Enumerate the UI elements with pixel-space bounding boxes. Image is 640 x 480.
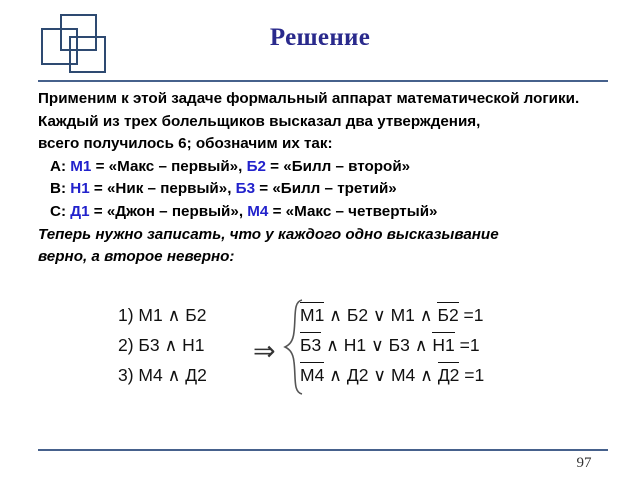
numbered-formula-list: 1) М1 ∧ Б2 2) Б3 ∧ Н1 3) М4 ∧ Д2 (118, 300, 207, 390)
person-b-text-2: = «Билл – третий» (255, 180, 397, 197)
slide-title: Решение (0, 24, 640, 52)
equation-tail: =1 (459, 305, 484, 325)
equation-row: М1 ∧ Б2 ∨ М1 ∧ Б2 =1 (300, 300, 484, 330)
person-c-prefix: C: (50, 203, 70, 220)
body-line-2: Каждый из трех болельщиков высказал два … (38, 111, 616, 134)
equation-row: Б3 ∧ Н1 ∨ Б3 ∧ Н1 =1 (300, 330, 484, 360)
person-c-text-1: = «Джон – первый», (90, 203, 248, 220)
body-line-3: всего получилось 6; обозначим их так: (38, 133, 616, 156)
equation-tail: =1 (455, 335, 480, 355)
person-b-label-2: Б3 (236, 180, 255, 197)
implies-arrow-icon: ⇒ (253, 338, 276, 365)
slide-body: Применим к этой задаче формальный аппара… (38, 88, 616, 269)
person-b-text-1: = «Ник – первый», (90, 180, 236, 197)
person-a-text-2: = «Билл – второй» (266, 158, 410, 175)
person-a-text-1: = «Макс – первый», (91, 158, 246, 175)
negated-term: Д2 (438, 362, 460, 387)
negated-term: М1 (300, 302, 324, 327)
person-a-prefix: A: (50, 158, 70, 175)
negated-term: М4 (300, 362, 324, 387)
negated-term: Б3 (300, 332, 321, 357)
equation-middle: ∧ Б2 ∨ М1 ∧ (324, 305, 437, 325)
equation-middle: ∧ Н1 ∨ Б3 ∧ (321, 335, 432, 355)
person-a-label-1: М1 (70, 158, 91, 175)
formula-area: 1) М1 ∧ Б2 2) Б3 ∧ Н1 3) М4 ∧ Д2 ⇒ М1 ∧ … (0, 298, 640, 398)
body-italic-2: верно, а второе неверно: (38, 246, 616, 269)
negated-term: Н1 (432, 332, 454, 357)
person-c-label-1: Д1 (70, 203, 89, 220)
equation-tail: =1 (459, 365, 484, 385)
person-b-prefix: B: (50, 180, 70, 197)
statement-person-c: C: Д1 = «Джон – первый», М4 = «Макс – че… (38, 201, 616, 224)
person-a-label-2: Б2 (247, 158, 266, 175)
statement-person-b: B: Н1 = «Ник – первый», Б3 = «Билл – тре… (38, 178, 616, 201)
person-c-label-2: М4 (247, 203, 268, 220)
footer-divider (38, 449, 608, 451)
negated-term: Б2 (437, 302, 458, 327)
person-b-label-1: Н1 (70, 180, 89, 197)
equation-middle: ∧ Д2 ∨ М4 ∧ (324, 365, 438, 385)
person-c-text-2: = «Макс – четвертый» (268, 203, 437, 220)
equation-system: М1 ∧ Б2 ∨ М1 ∧ Б2 =1 Б3 ∧ Н1 ∨ Б3 ∧ Н1 =… (300, 300, 484, 390)
page-number: 97 (560, 455, 608, 472)
body-line-1: Применим к этой задаче формальный аппара… (38, 88, 616, 111)
numbered-formula-item: 2) Б3 ∧ Н1 (118, 330, 207, 360)
header-divider (38, 80, 608, 82)
statement-person-a: A: М1 = «Макс – первый», Б2 = «Билл – вт… (38, 156, 616, 179)
equation-row: М4 ∧ Д2 ∨ М4 ∧ Д2 =1 (300, 360, 484, 390)
numbered-formula-item: 3) М4 ∧ Д2 (118, 360, 207, 390)
body-italic-1: Теперь нужно записать, что у каждого одн… (38, 224, 616, 247)
numbered-formula-item: 1) М1 ∧ Б2 (118, 300, 207, 330)
